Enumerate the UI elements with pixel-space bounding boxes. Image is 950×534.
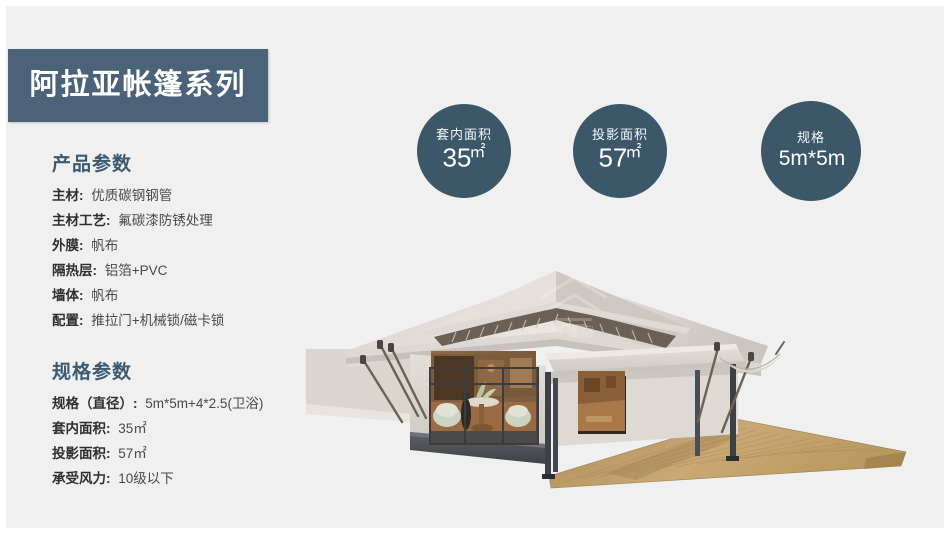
tent-illustration: 帐篷房 (306, 236, 944, 528)
stat-label: 套内面积 (436, 128, 492, 142)
spec-value: 5m*5m+4*2.5(卫浴) (145, 396, 263, 411)
tent-product-image: 帐篷房 (306, 236, 944, 528)
spec-row: 隔热层: 铝箔+PVC (52, 258, 224, 283)
spec-value: 10级以下 (118, 471, 174, 486)
stat-label: 投影面积 (592, 128, 648, 142)
product-parameters-heading: 产品参数 (52, 154, 224, 177)
spec-value: 优质碳钢钢管 (91, 188, 172, 203)
spec-key: 承受风力: (52, 471, 111, 486)
size-parameters-block: 规格参数 规格（直径）: 5m*5m+4*2.5(卫浴) 套内面积: 35㎡ 投… (52, 362, 263, 491)
product-parameters-list: 主材: 优质碳钢钢管 主材工艺: 氟碳漆防锈处理 外膜: 帆布 隔热层: 铝箔+… (52, 183, 224, 333)
spec-row: 墙体: 帆布 (52, 283, 224, 308)
spec-key: 套内面积: (52, 421, 111, 436)
spec-key: 隔热层: (52, 263, 97, 278)
spec-row: 承受风力: 10级以下 (52, 466, 263, 491)
stat-circle-projected-area: 投影面积 57㎡ (573, 104, 667, 198)
spec-value: 帆布 (91, 288, 118, 303)
page-root: 阿拉亚帐篷系列 产品参数 主材: 优质碳钢钢管 主材工艺: 氟碳漆防锈处理 外膜… (0, 0, 950, 534)
spec-row: 规格（直径）: 5m*5m+4*2.5(卫浴) (52, 391, 263, 416)
spec-row: 外膜: 帆布 (52, 233, 224, 258)
spec-row: 主材工艺: 氟碳漆防锈处理 (52, 208, 224, 233)
spec-value: 推拉门+机械锁/磁卡锁 (91, 313, 224, 328)
stat-circle-interior-area: 套内面积 35㎡ (417, 104, 511, 198)
stat-unit: ㎡ (469, 143, 485, 161)
spec-key: 外膜: (52, 238, 84, 253)
size-parameters-heading: 规格参数 (52, 362, 263, 385)
page-title: 阿拉亚帐篷系列 (29, 71, 246, 100)
stat-value: 35㎡ (442, 143, 485, 174)
spec-key: 投影面积: (52, 446, 111, 461)
size-parameters-list: 规格（直径）: 5m*5m+4*2.5(卫浴) 套内面积: 35㎡ 投影面积: … (52, 391, 263, 491)
spec-row: 配置: 推拉门+机械锁/磁卡锁 (52, 308, 224, 333)
spec-row: 投影面积: 57㎡ (52, 441, 263, 466)
stat-label: 规格 (797, 131, 825, 145)
spec-row: 套内面积: 35㎡ (52, 416, 263, 441)
stat-circle-dimensions: 规格 5m*5m (761, 101, 861, 201)
spec-key: 主材工艺: (52, 213, 111, 228)
spec-key: 配置: (52, 313, 84, 328)
product-parameters-block: 产品参数 主材: 优质碳钢钢管 主材工艺: 氟碳漆防锈处理 外膜: 帆布 隔热层… (52, 154, 224, 333)
spec-value: 铝箔+PVC (105, 263, 168, 278)
stat-number: 35 (442, 143, 471, 173)
page-title-banner: 阿拉亚帐篷系列 (8, 49, 268, 122)
spec-value: 57㎡ (118, 446, 147, 461)
stat-unit: ㎡ (625, 143, 641, 161)
spec-value: 帆布 (91, 238, 118, 253)
stat-number: 57 (598, 143, 627, 173)
spec-key: 墙体: (52, 288, 84, 303)
spec-value: 氟碳漆防锈处理 (118, 213, 213, 228)
page-canvas: 阿拉亚帐篷系列 产品参数 主材: 优质碳钢钢管 主材工艺: 氟碳漆防锈处理 外膜… (6, 6, 944, 528)
stat-value: 5m*5m (779, 146, 844, 171)
stat-number: 5m*5m (779, 147, 846, 170)
spec-key: 规格（直径）: (52, 396, 138, 411)
stat-value: 57㎡ (598, 143, 641, 174)
spec-key: 主材: (52, 188, 84, 203)
spec-value: 35㎡ (118, 421, 147, 436)
spec-row: 主材: 优质碳钢钢管 (52, 183, 224, 208)
